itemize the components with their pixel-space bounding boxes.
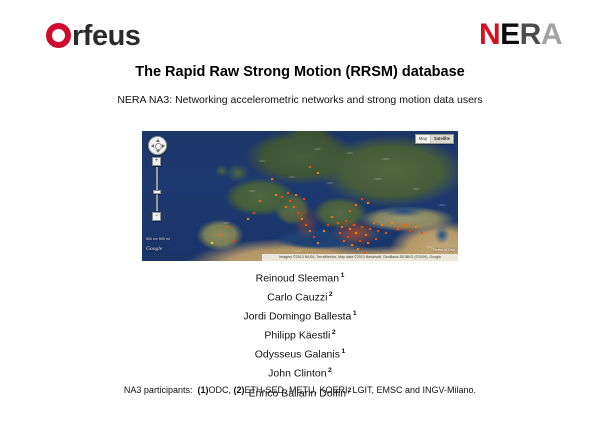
author-entry: John Clinton2 [0,363,600,382]
page-title: The Rapid Raw Strong Motion (RRSM) datab… [0,64,600,80]
author-affiliation: 1 [341,272,345,279]
google-watermark: Google [146,246,162,252]
map-canvas[interactable] [142,131,458,261]
nera-letter-a: A [541,20,562,50]
author-name: Carlo Cauzzi [267,292,327,304]
zoom-in-button[interactable]: + [152,157,161,166]
footnote-lead: NA3 participants: [124,385,193,395]
map-attribution: Imagery ©2013 NASA, TerraMetrics, Map da… [262,254,458,261]
zoom-out-button[interactable]: − [152,212,161,221]
map-zoom-slider[interactable]: + − [152,157,161,221]
nera-letter-e: E [500,20,520,50]
map-pan-compass-control[interactable] [148,136,167,155]
orfeus-o-ring-icon [46,23,71,48]
earthquake-epicentre-markers[interactable] [142,131,458,261]
page-subtitle: NERA NA3: Networking accelerometric netw… [0,94,600,106]
map-type-control[interactable]: Map Satellite [415,134,454,144]
pan-left-icon[interactable] [151,144,154,148]
author-affiliation: 1 [353,310,357,317]
map-terms-link[interactable]: Terms of Use [433,248,455,252]
zoom-slider-handle[interactable] [153,190,161,194]
map-type-map-button[interactable]: Map [416,135,431,143]
nera-letter-r: R [520,20,541,50]
author-affiliation: 2 [332,329,336,336]
footnote-marker-1: (1) [197,385,208,395]
zoom-slider-track[interactable] [156,167,158,211]
affiliations-footnote: NA3 participants: (1)ODC, (2)ETH-SED, ME… [0,385,600,395]
author-name: Reinoud Sleeman [256,273,339,285]
author-list: Reinoud Sleeman1 Carlo Cauzzi2 Jordi Dom… [0,268,600,402]
author-name: Jordi Domingo Ballesta [243,311,351,323]
europe-earthquake-map[interactable]: + − Map Satellite 500 km 500 mi Google I… [142,131,458,261]
map-type-satellite-button[interactable]: Satellite [431,135,453,143]
footnote-group-1: ODC, [208,385,231,395]
author-entry: Reinoud Sleeman1 [0,268,600,287]
footnote-group-2: ETH-SED, METU, KOERI, LGIT, EMSC and ING… [245,385,477,395]
pan-up-icon[interactable] [156,139,160,142]
nera-letter-n: N [479,20,500,50]
author-name: John Clinton [268,368,326,380]
author-entry: Carlo Cauzzi2 [0,287,600,306]
author-entry: Jordi Domingo Ballesta1 [0,306,600,325]
nera-logo: NERA [479,18,562,52]
author-name: Odysseus Galanis [255,349,340,361]
map-scale-bar: 500 km 500 mi [146,237,170,242]
author-entry: Philipp Käestli2 [0,325,600,344]
author-affiliation: 2 [328,367,332,374]
author-entry: Odysseus Galanis1 [0,344,600,363]
pan-center-icon[interactable] [155,143,162,150]
footnote-marker-2: (2) [234,385,245,395]
orfeus-logo: rfeus [46,18,140,52]
author-name: Philipp Käestli [264,330,330,342]
author-affiliation: 1 [341,348,345,355]
author-affiliation: 2 [329,291,333,298]
orfeus-logo-text: rfeus [72,22,140,51]
